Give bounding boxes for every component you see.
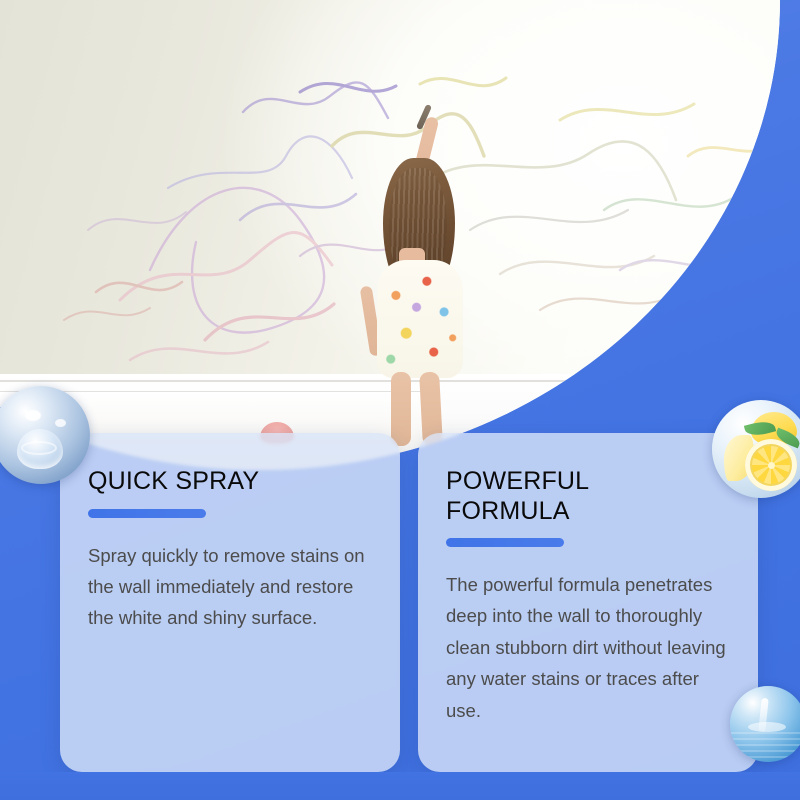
- feature-card-quick-spray[interactable]: QUICK SPRAY Spray quickly to remove stai…: [60, 433, 400, 772]
- lemon-half-slice: [745, 439, 797, 491]
- accent-bar: [88, 509, 206, 518]
- feature-cards: QUICK SPRAY Spray quickly to remove stai…: [0, 0, 800, 800]
- ripple-ring: [21, 441, 57, 455]
- card-body: Spray quickly to remove stains on the wa…: [88, 540, 372, 634]
- accent-bar: [446, 538, 564, 547]
- highlight: [25, 410, 41, 421]
- card-body: The powerful formula penetrates deep int…: [446, 569, 730, 726]
- lemon-icon: [712, 400, 800, 498]
- water-waves: [730, 732, 800, 762]
- card-title: POWERFUL FORMULA: [446, 467, 730, 526]
- bottom-blue-strip: [0, 772, 800, 800]
- highlight: [55, 419, 66, 427]
- card-title: QUICK SPRAY: [88, 467, 372, 497]
- infographic-canvas: QUICK SPRAY Spray quickly to remove stai…: [0, 0, 800, 800]
- water-splash-icon: [730, 686, 800, 762]
- feature-card-powerful-formula[interactable]: POWERFUL FORMULA The powerful formula pe…: [418, 433, 758, 772]
